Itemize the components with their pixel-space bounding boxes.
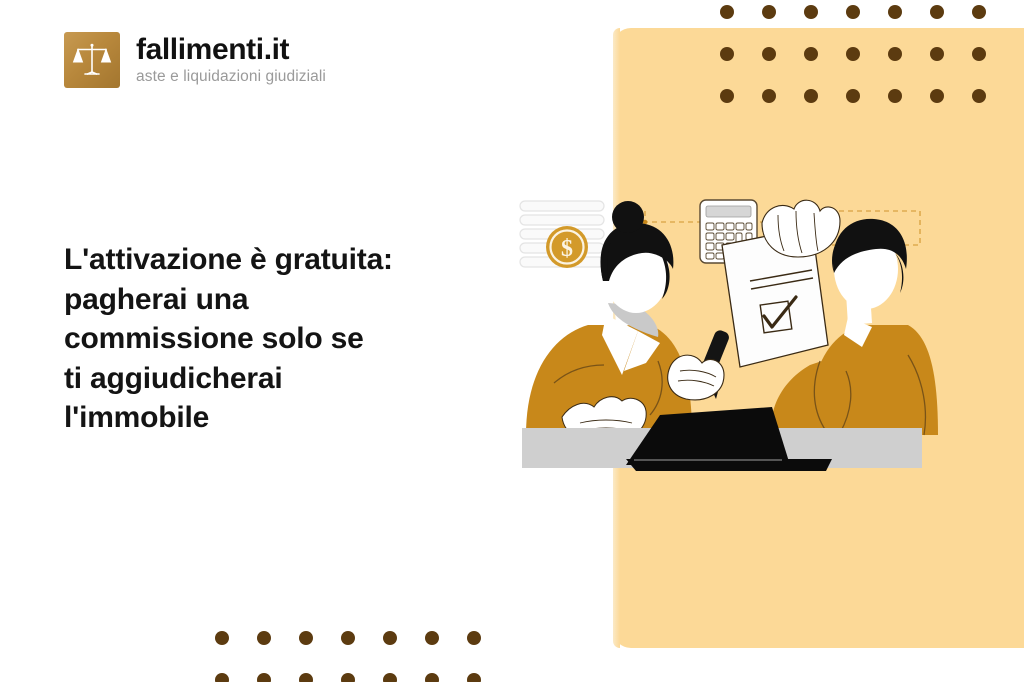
decorative-dot xyxy=(341,631,355,645)
dollar-coin-icon: $ xyxy=(546,226,588,268)
decorative-dot xyxy=(383,673,397,682)
lower-hand xyxy=(668,355,724,400)
hero-banner: fallimenti.it aste e liquidazioni giudiz… xyxy=(0,0,1024,682)
decorative-dot xyxy=(425,673,439,682)
decorative-dot xyxy=(215,631,229,645)
decorative-dot xyxy=(215,673,229,682)
svg-text:$: $ xyxy=(561,236,573,262)
decorative-dot xyxy=(257,673,271,682)
upper-hand xyxy=(762,200,840,257)
illustration-two-people-signing-document: $ xyxy=(510,185,940,485)
brand-tagline: aste e liquidazioni giudiziali xyxy=(136,69,326,85)
decorative-dot xyxy=(425,631,439,645)
brand-logo[interactable]: fallimenti.it aste e liquidazioni giudiz… xyxy=(64,32,326,88)
decorative-dot xyxy=(257,631,271,645)
scales-of-justice-icon xyxy=(64,32,120,88)
decorative-dot xyxy=(341,673,355,682)
decorative-dot xyxy=(467,631,481,645)
decorative-dot xyxy=(299,673,313,682)
brand-name: fallimenti.it xyxy=(136,35,326,66)
decorative-dot xyxy=(467,673,481,682)
hero-headline: L'attivazione è gratuita: pagherai una c… xyxy=(64,240,494,438)
decorative-dot xyxy=(383,631,397,645)
decorative-dot xyxy=(299,631,313,645)
